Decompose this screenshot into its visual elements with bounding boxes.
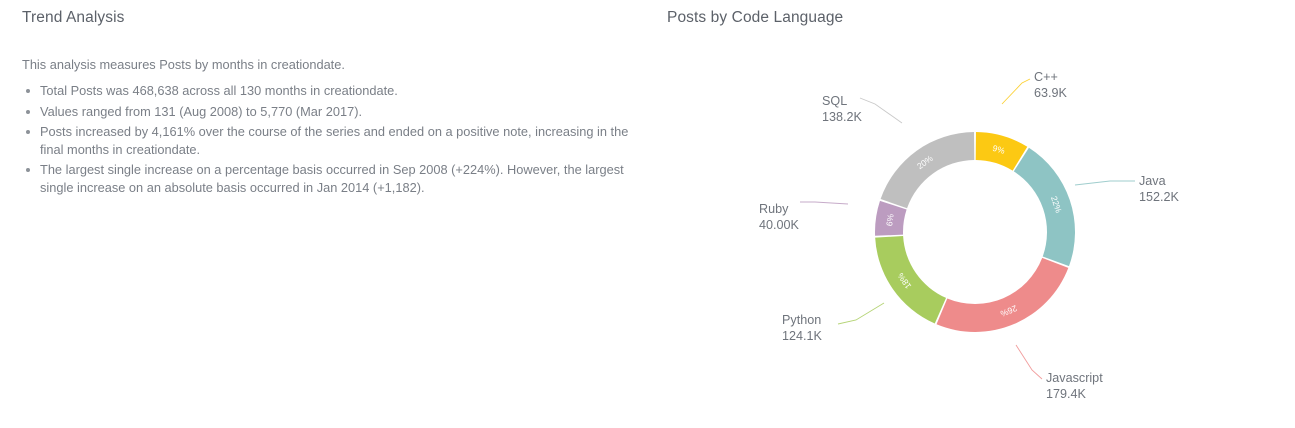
leader-line — [1016, 345, 1042, 379]
list-item: Total Posts was 468,638 across all 130 m… — [22, 82, 637, 100]
trend-analysis-body: This analysis measures Posts by months i… — [22, 56, 637, 199]
donut-slice-group — [875, 132, 1075, 332]
callout-value: 124.1K — [782, 329, 822, 345]
slice-callout-sql: SQL 138.2K — [822, 94, 862, 125]
callout-name: Python — [782, 313, 822, 329]
donut-slice-java[interactable] — [1014, 148, 1075, 266]
list-item: Posts increased by 4,161% over the cours… — [22, 123, 637, 158]
trend-analysis-title: Trend Analysis — [22, 9, 124, 27]
leader-line — [800, 202, 848, 204]
slice-callout-ruby: Ruby 40.00K — [759, 202, 799, 233]
callout-value: 179.4K — [1046, 387, 1103, 403]
slice-percent-label: 6% — [884, 213, 896, 227]
leader-line — [1002, 79, 1030, 104]
trend-analysis-panel: Trend Analysis This analysis measures Po… — [0, 0, 660, 428]
list-item: Values ranged from 131 (Aug 2008) to 5,7… — [22, 103, 637, 121]
callout-name: Javascript — [1046, 371, 1103, 387]
donut-chart-svg: 9%22%26%18%6%20% — [660, 0, 1295, 428]
analysis-intro-text: This analysis measures Posts by months i… — [22, 56, 637, 73]
donut-slice-sql[interactable] — [881, 132, 975, 208]
posts-by-code-language-panel: Posts by Code Language 9%22%26%18%6%20% … — [660, 0, 1295, 428]
list-item: The largest single increase on a percent… — [22, 161, 637, 196]
leader-line — [860, 98, 902, 123]
slice-callout-java: Java 152.2K — [1139, 174, 1179, 205]
leader-line — [1075, 181, 1135, 185]
donut-slice-javascript[interactable] — [937, 258, 1069, 332]
callout-name: C++ — [1034, 70, 1067, 86]
slice-callout-python: Python 124.1K — [782, 313, 822, 344]
donut-chart-stage: 9%22%26%18%6%20% C++ 63.9K Java 152.2K J… — [660, 0, 1295, 428]
callout-value: 138.2K — [822, 110, 862, 126]
leader-line — [838, 303, 884, 324]
callout-name: Java — [1139, 174, 1179, 190]
callout-name: Ruby — [759, 202, 799, 218]
analysis-bullet-list: Total Posts was 468,638 across all 130 m… — [22, 82, 637, 196]
callout-value: 63.9K — [1034, 86, 1067, 102]
callout-name: SQL — [822, 94, 862, 110]
slice-callout-c++: C++ 63.9K — [1034, 70, 1067, 101]
callout-value: 40.00K — [759, 218, 799, 234]
callout-value: 152.2K — [1139, 190, 1179, 206]
slice-callout-javascript: Javascript 179.4K — [1046, 371, 1103, 402]
donut-slice-python[interactable] — [875, 236, 946, 324]
